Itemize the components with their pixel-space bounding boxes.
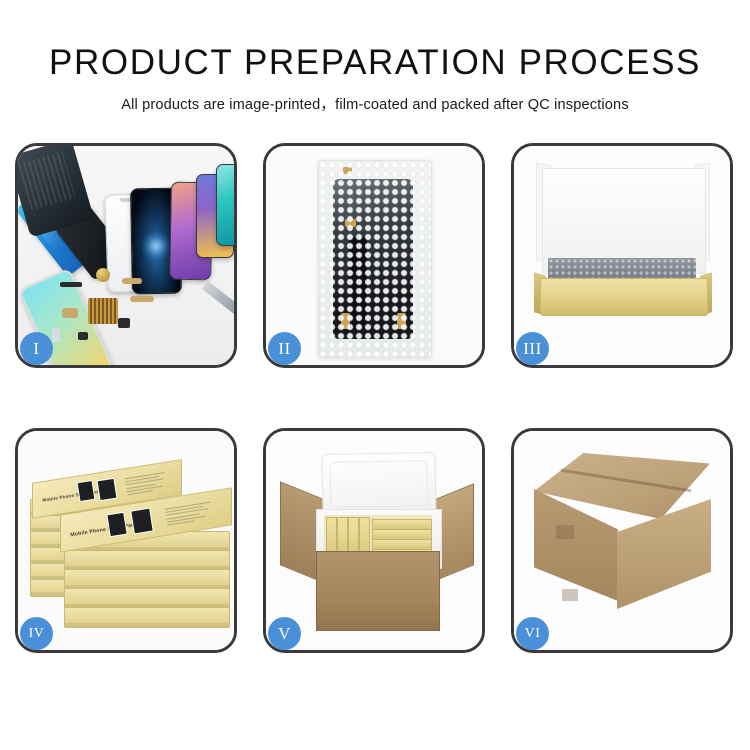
stack-box <box>64 569 230 590</box>
stack-box <box>64 550 230 571</box>
camera-module-part <box>118 318 130 328</box>
speaker-part-icon <box>96 268 110 282</box>
step-image-4: Mobile Phone Spare Parts Mobile Phone Sp… <box>18 431 234 650</box>
step-panel-5: V <box>263 428 485 653</box>
page-title: PRODUCT PREPARATION PROCESS <box>0 45 750 82</box>
box-window-image <box>106 512 127 538</box>
sim-tray-part <box>52 328 60 342</box>
step-panel-4: Mobile Phone Spare Parts Mobile Phone Sp… <box>15 428 237 653</box>
step-image-6 <box>514 431 730 650</box>
step-badge-3: III <box>516 332 549 365</box>
steps-grid: I II <box>15 143 735 678</box>
bubble-wrap-bag <box>318 160 432 358</box>
header: PRODUCT PREPARATION PROCESS All products… <box>0 0 750 114</box>
step-panel-3: III <box>511 143 733 368</box>
infographic-page: PRODUCT PREPARATION PROCESS All products… <box>0 0 750 750</box>
box-window-image <box>77 480 96 502</box>
battery-connector-part <box>60 282 82 287</box>
bubble-texture <box>319 161 431 357</box>
step-badge-5: V <box>268 617 301 650</box>
carton-front-panel <box>316 551 440 631</box>
page-subtitle: All products are image-printed，film-coat… <box>0 93 750 114</box>
box-stack: Mobile Phone Spare Parts Mobile Phone Sp… <box>30 457 228 633</box>
screw-tray-part <box>88 298 118 324</box>
step-panel-2: II <box>263 143 485 368</box>
step-panel-1: I <box>15 143 237 368</box>
step-badge-6: VI <box>516 617 549 650</box>
stack-box <box>64 588 230 609</box>
small-flex-part <box>62 308 78 318</box>
box-window-image <box>96 478 117 502</box>
step-panel-6: VI <box>511 428 733 653</box>
vibrator-part <box>78 332 88 340</box>
step-badge-4: IV <box>20 617 53 650</box>
step-image-1 <box>18 146 234 365</box>
box-window-image <box>130 508 154 535</box>
foam-lid <box>321 452 436 516</box>
stack-box <box>64 607 230 628</box>
step-image-2 <box>266 146 482 365</box>
flex-cable-part <box>122 278 142 284</box>
yellow-box-front <box>540 278 708 316</box>
step-image-5 <box>266 431 482 650</box>
teal-phone-screen <box>216 164 234 246</box>
carton-tape-lower <box>562 589 578 601</box>
carton-tape-upper <box>556 525 574 539</box>
step-badge-2: II <box>268 332 301 365</box>
step-badge-1: I <box>20 332 53 365</box>
ribbon-cable-part <box>130 296 154 302</box>
step-image-3 <box>514 146 730 365</box>
